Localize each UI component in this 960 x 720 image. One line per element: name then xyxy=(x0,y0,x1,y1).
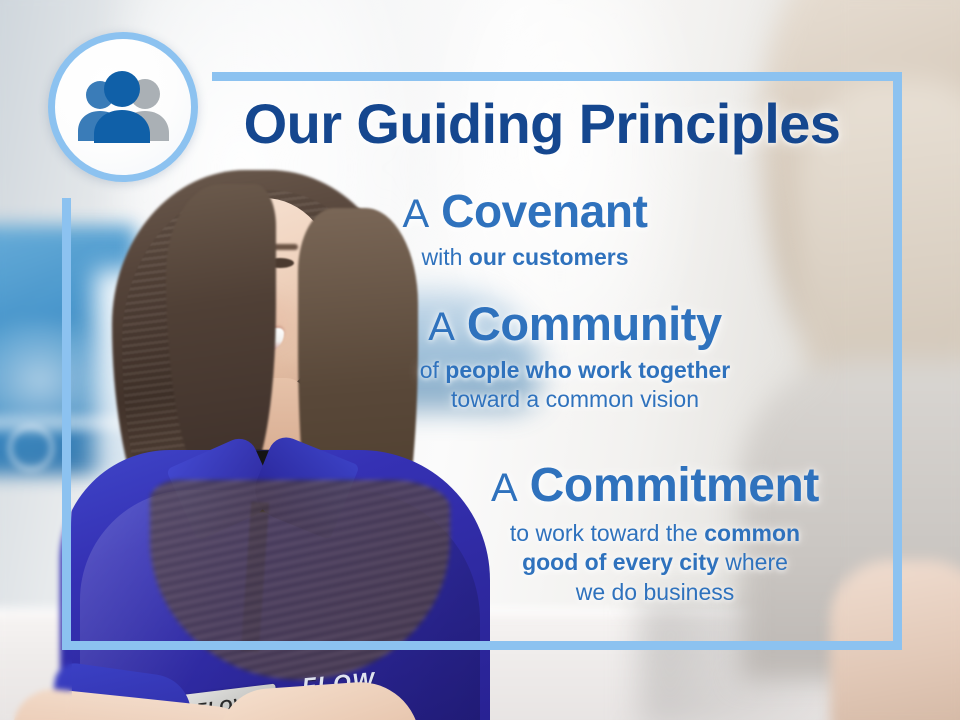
principle-covenant-heading: A Covenant xyxy=(300,188,750,235)
principle-community-word: Community xyxy=(467,297,722,350)
principle-covenant-subtext: with our customers xyxy=(300,243,750,272)
principle-community: A Community of people who work together … xyxy=(350,300,800,415)
principle-covenant-word: Covenant xyxy=(441,185,647,237)
principle-covenant: A Covenant with our customers xyxy=(300,188,750,272)
principle-community-subtext: of people who work together toward a com… xyxy=(350,356,800,415)
guiding-principles-poster: FLOW AUTOMOTIVE FLOW xyxy=(0,0,960,720)
principle-commitment-subline-1: to work toward the common xyxy=(420,519,890,548)
principle-covenant-subline: with our customers xyxy=(300,243,750,272)
principle-commitment-article: A xyxy=(491,466,518,510)
principle-community-article: A xyxy=(428,305,455,349)
page-title: Our Guiding Principles xyxy=(212,96,872,152)
principle-commitment-subline-2: good of every city where xyxy=(420,548,890,577)
poster-text-content: Our Guiding Principles A Covenant with o… xyxy=(0,0,960,720)
principle-covenant-article: A xyxy=(402,192,429,236)
principle-commitment-word: Commitment xyxy=(530,459,819,512)
principle-commitment-subline-3: we do business xyxy=(420,578,890,607)
principle-commitment: A Commitment to work toward the common g… xyxy=(420,462,890,607)
principle-commitment-heading: A Commitment xyxy=(420,462,890,511)
principle-community-subline-1: of people who work together xyxy=(350,356,800,385)
principle-community-heading: A Community xyxy=(350,300,800,348)
principle-commitment-subtext: to work toward the common good of every … xyxy=(420,519,890,607)
principle-community-subline-2: toward a common vision xyxy=(350,385,800,414)
